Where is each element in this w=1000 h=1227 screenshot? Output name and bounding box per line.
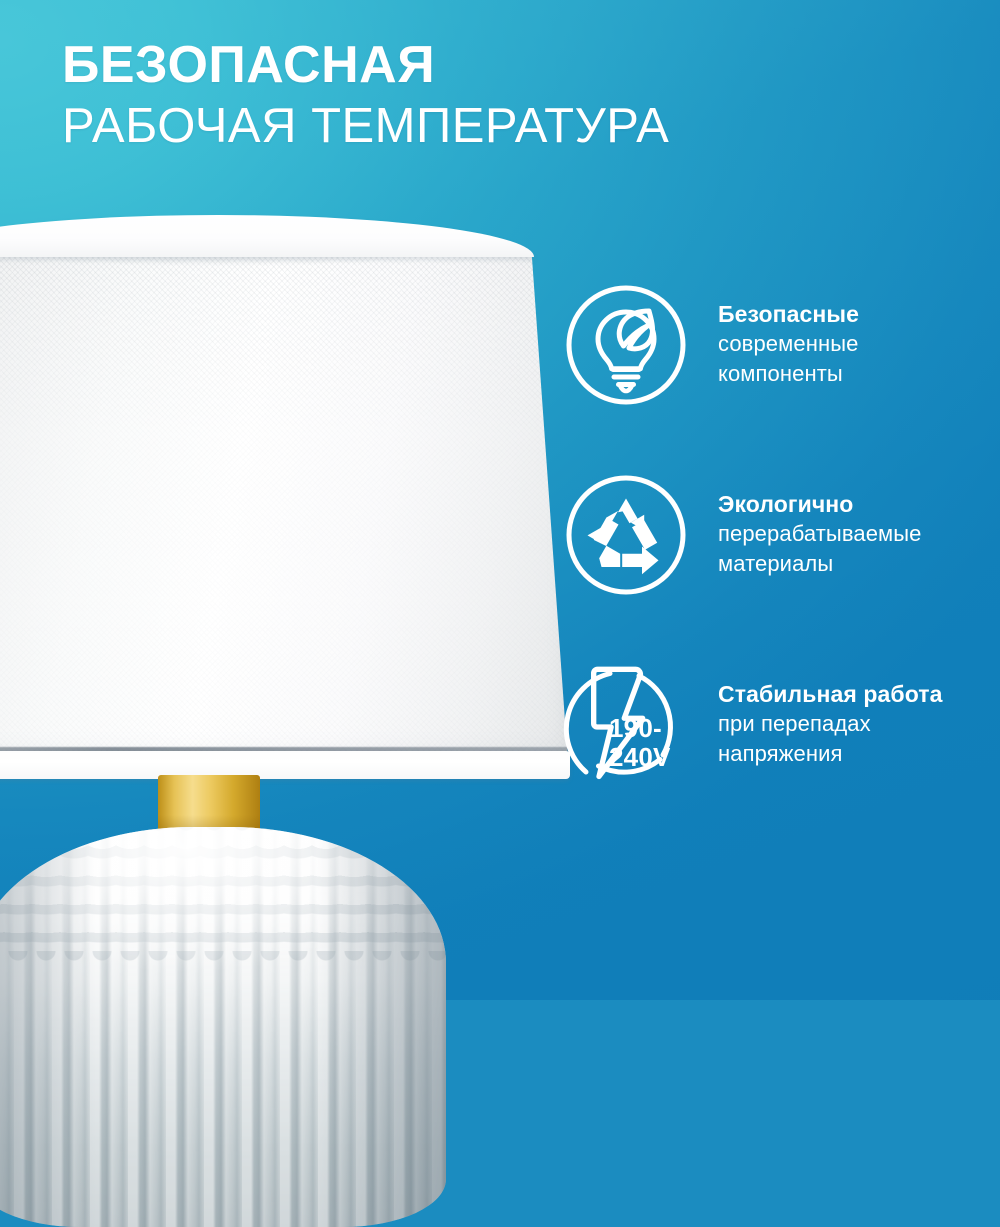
lamp-base-ceramic xyxy=(0,827,446,1227)
feature-line-2: перерабатываемые xyxy=(718,519,922,549)
product-image-table-lamp xyxy=(0,215,568,1005)
headline-line-1: БЕЗОПАСНАЯ xyxy=(62,34,922,96)
feature-text: Стабильная работа при перепадах напряжен… xyxy=(689,662,943,769)
feature-text: Безопасные современные компоненты xyxy=(689,282,859,389)
lamp-shade-bottom-rim xyxy=(0,751,570,779)
feature-line-2: современные xyxy=(718,329,859,359)
recycle-icon xyxy=(563,472,689,598)
lamp-base-shadow-left xyxy=(0,827,96,1227)
feature-item-eco-materials: Экологично перерабатываемые материалы xyxy=(563,472,983,598)
feature-line-3: напряжения xyxy=(718,739,943,769)
lamp-shade-top-rim xyxy=(0,215,534,257)
lamp-base-shadow-right xyxy=(316,827,446,1227)
headline-line-2: РАБОЧАЯ ТЕМПЕРАТУРА xyxy=(62,96,922,156)
voltage-line-1: 190- xyxy=(609,714,695,743)
feature-list: Безопасные современные компоненты xyxy=(563,282,983,788)
feature-title: Стабильная работа xyxy=(718,679,943,709)
page-title: БЕЗОПАСНАЯ РАБОЧАЯ ТЕМПЕРАТУРА xyxy=(62,34,922,156)
feature-title: Экологично xyxy=(718,489,922,519)
feature-item-stable-voltage: 190- 240V Стабильная работа при перепада… xyxy=(563,662,983,788)
lamp-shade-fabric-texture xyxy=(0,223,568,763)
feature-text: Экологично перерабатываемые материалы xyxy=(689,472,922,579)
feature-title: Безопасные xyxy=(718,299,859,329)
feature-item-safe-components: Безопасные современные компоненты xyxy=(563,282,983,408)
voltage-bolt-icon: 190- 240V xyxy=(563,662,689,788)
voltage-line-2: 240V xyxy=(609,743,695,772)
feature-line-3: компоненты xyxy=(718,359,859,389)
feature-line-2: при перепадах xyxy=(718,709,943,739)
lamp-shade xyxy=(0,215,568,775)
eco-lightbulb-icon xyxy=(563,282,689,408)
voltage-range-badge: 190- 240V xyxy=(609,714,695,772)
feature-line-3: материалы xyxy=(718,549,922,579)
